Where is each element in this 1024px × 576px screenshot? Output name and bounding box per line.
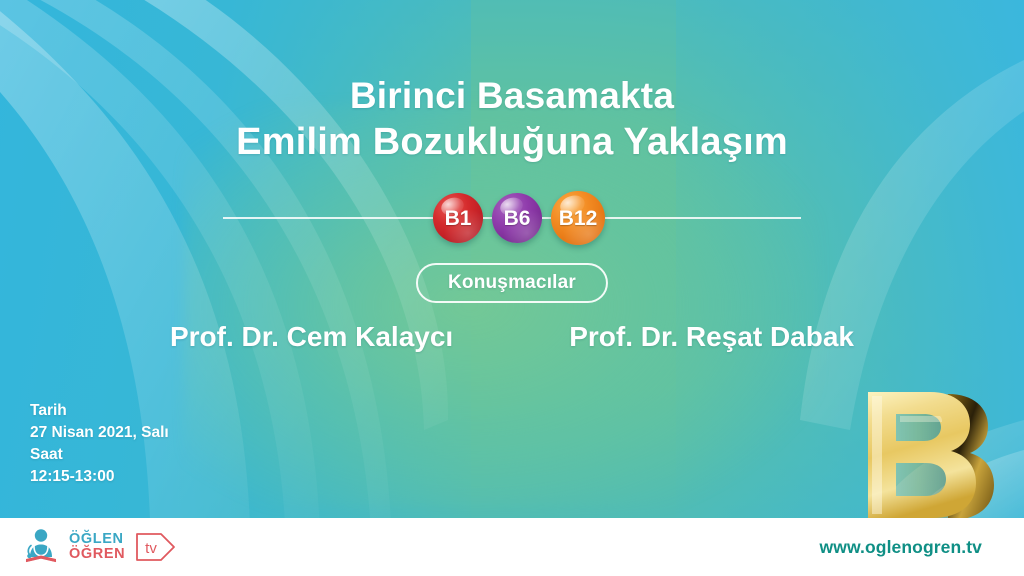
divider-line-mid-1 xyxy=(483,217,492,219)
time-label: Saat xyxy=(30,444,169,466)
speaker-name-1: Prof. Dr. Cem Kalaycı xyxy=(170,320,453,354)
vitamin-divider-row: B1 B6 B12 xyxy=(0,191,1024,245)
vitamin-badge-b6-label: B6 xyxy=(504,208,531,229)
speakers-list: Prof. Dr. Cem Kalaycı Prof. Dr. Reşat Da… xyxy=(0,320,1024,354)
brand-logo[interactable]: ÖĞLEN ÖĞREN tv xyxy=(22,527,176,567)
tv-play-badge-icon: tv xyxy=(134,528,176,566)
webinar-poster: Birinci Basamakta Emilim Bozukluğuna Yak… xyxy=(0,0,1024,576)
brand-wordmark: ÖĞLEN ÖĞREN xyxy=(69,532,125,562)
website-url[interactable]: www.oglenogren.tv xyxy=(820,537,982,558)
speaker-name-2: Prof. Dr. Reşat Dabak xyxy=(569,320,854,354)
doctor-icon xyxy=(22,527,62,567)
title-line-2: Emilim Bozukluğuna Yaklaşım xyxy=(0,119,1024,166)
schedule-block: Tarih 27 Nisan 2021, Salı Saat 12:15-13:… xyxy=(30,400,169,488)
svg-text:tv: tv xyxy=(145,540,157,557)
divider-line-mid-2 xyxy=(542,217,551,219)
divider-line-left xyxy=(223,217,433,219)
vitamin-badge-b12-label: B12 xyxy=(559,208,598,229)
brand-word-oglen: ÖĞLEN xyxy=(69,532,125,547)
divider-line-right xyxy=(605,217,801,219)
date-label: Tarih xyxy=(30,400,169,422)
brand-word-ogren: ÖĞREN xyxy=(69,547,125,562)
speakers-section-label: Konuşmacılar xyxy=(416,263,608,303)
vitamin-badge-b1: B1 xyxy=(433,193,483,243)
vitamin-badge-b12: B12 xyxy=(551,191,605,245)
vitamin-badge-b1-label: B1 xyxy=(445,208,472,229)
golden-letter-b-decoration xyxy=(852,386,1002,528)
title-line-1: Birinci Basamakta xyxy=(0,72,1024,119)
time-value: 12:15-13:00 xyxy=(30,466,169,488)
footer-bar: ÖĞLEN ÖĞREN tv www.oglenogren.tv xyxy=(0,518,1024,576)
vitamin-badge-b6: B6 xyxy=(492,193,542,243)
poster-title: Birinci Basamakta Emilim Bozukluğuna Yak… xyxy=(0,72,1024,166)
date-value: 27 Nisan 2021, Salı xyxy=(30,422,169,444)
